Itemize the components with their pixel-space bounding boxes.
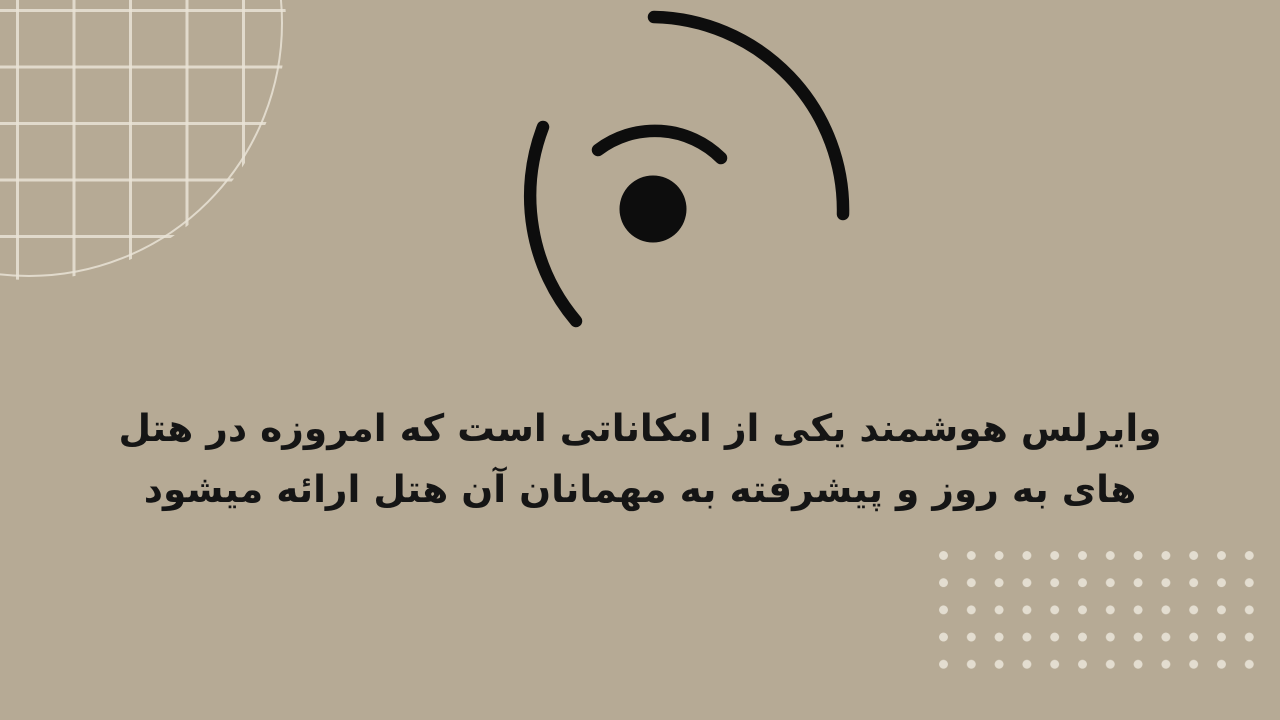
signal-arc-inner — [598, 131, 721, 158]
slide-canvas: وایرلس هوشمند یکی از امکاناتی است که امر… — [0, 0, 1280, 720]
wireless-signal-svg — [495, 0, 875, 342]
signal-arc-left — [530, 127, 576, 321]
disc-outline — [0, 0, 283, 277]
page-title: وایرلس هوشمند یکی از امکاناتی است که امر… — [0, 398, 1280, 520]
signal-arc-outer — [654, 17, 843, 214]
dot-grid-decoration-icon — [939, 551, 1259, 676]
signal-center-dot — [620, 176, 687, 243]
grid-circle-decoration-icon — [0, 0, 286, 280]
wireless-signal-icon — [495, 0, 875, 342]
grid-lines — [0, 0, 286, 280]
